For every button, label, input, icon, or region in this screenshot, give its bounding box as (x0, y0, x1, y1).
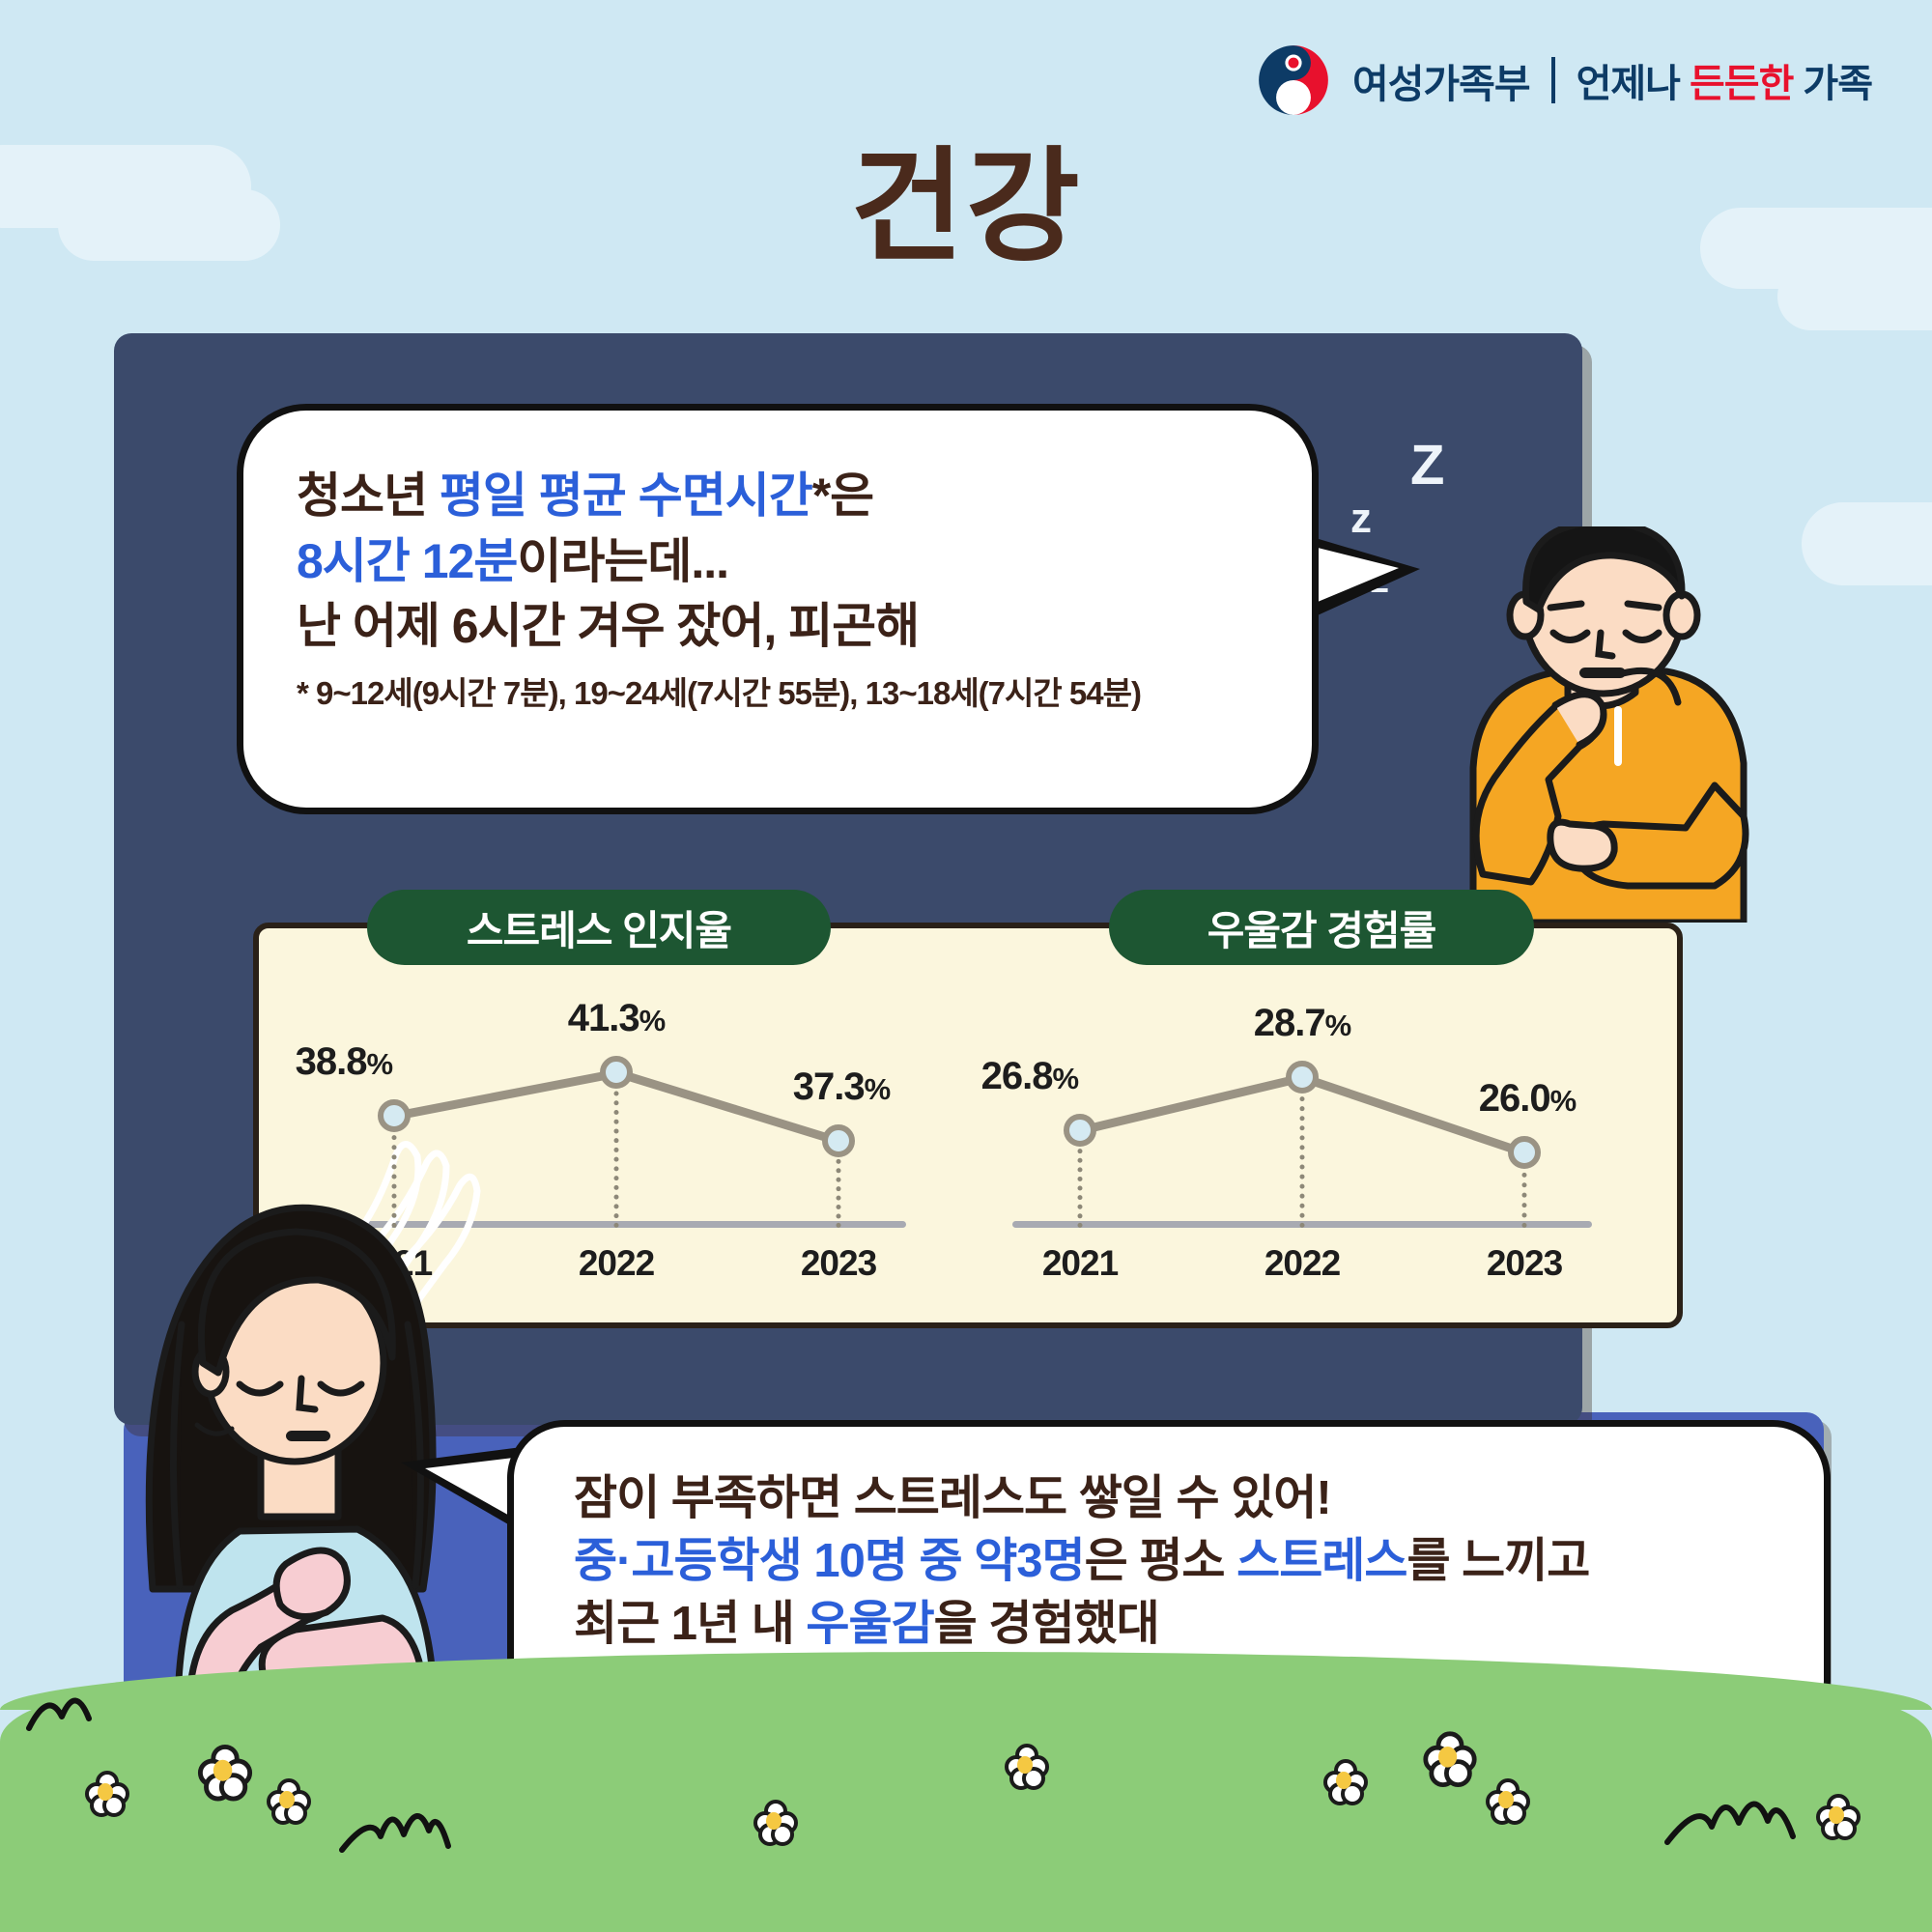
header-divider (1551, 57, 1555, 103)
flower-icon (1323, 1759, 1368, 1804)
chart-value-label: 26.8% (981, 1055, 1078, 1098)
chart-x-axis-label: 2022 (1264, 1243, 1340, 1284)
chart-point-stem (1300, 1077, 1305, 1228)
flower-icon (1005, 1744, 1049, 1788)
tired-boy-illustration (1425, 526, 1840, 923)
flower-icon (198, 1745, 252, 1799)
bottom-text-stress: 스트레스 (1236, 1535, 1406, 1587)
chart-x-axis-label: 2022 (579, 1243, 654, 1284)
top-speech-bubble: 청소년 평일 평균 수면시간*은 8시간 12분이라는데... 난 어제 6시간… (237, 404, 1319, 814)
chart-value-label: 38.8% (296, 1040, 392, 1084)
grass-tuft-icon (19, 1672, 135, 1739)
flower-icon (1423, 1731, 1476, 1784)
bottom-bubble-line-3: 최근 1년 내 우울감을 경험했대 (574, 1593, 1824, 1656)
chart-x-axis-label: 2023 (1487, 1243, 1562, 1284)
bottom-text-b: 은 평소 (1085, 1535, 1236, 1587)
bubble-footnote: * 9~12세(9시간 7분), 19~24세(7시간 55분), 13~18세… (297, 668, 1312, 714)
flower-icon (267, 1778, 311, 1823)
chart-data-point[interactable] (1508, 1136, 1541, 1169)
bubble-text-highlight: 평일 평균 수면시간 (440, 469, 812, 523)
chart-title-stress: 스트레스 인지율 (367, 890, 831, 965)
bubble-line-2: 8시간 12분이라는데... (297, 529, 1312, 595)
chart-data-point[interactable] (600, 1056, 633, 1089)
bottom-bubble-line-1: 잠이 부족하면 스트레스도 쌓일 수 있어! (574, 1467, 1824, 1530)
bottom-text-depression: 우울감 (806, 1598, 933, 1650)
chart-data-point[interactable] (1064, 1114, 1096, 1147)
bottom-text-d: 를 느끼고 (1406, 1535, 1589, 1587)
flower-icon (85, 1771, 129, 1815)
grass-foreground (0, 1695, 1932, 1932)
grass-tuft-icon (1662, 1775, 1826, 1857)
flower-icon (753, 1800, 798, 1844)
chart-line-segment (393, 1068, 617, 1120)
page-title: 건강 (0, 106, 1932, 285)
grass-tuft-icon (336, 1790, 481, 1862)
flower-icon (1486, 1778, 1530, 1823)
tired-girl-illustration (97, 1135, 541, 1734)
slogan: 언제나 든든한 가족 (1577, 52, 1872, 108)
slogan-highlight: 든든한 (1690, 52, 1793, 108)
chart-data-point[interactable] (822, 1124, 855, 1157)
chart-line-segment (1079, 1073, 1303, 1135)
bubble-line-1: 청소년 평일 평균 수면시간*은 (297, 464, 1312, 529)
chart-x-axis-label: 2023 (801, 1243, 876, 1284)
bubble-text-a: 청소년 (297, 469, 440, 523)
chart-point-stem (614, 1072, 619, 1228)
sleep-z-icon: Z (1410, 433, 1444, 497)
bottom-bubble-line-2: 중·고등학생 10명 중 약3명은 평소 스트레스를 느끼고 (574, 1530, 1824, 1593)
bubble-line-3: 난 어제 6시간 겨우 잤어, 피곤해 (297, 594, 1312, 660)
ministry-name: 여성가족부 (1352, 51, 1530, 109)
chart-value-label: 28.7% (1254, 1002, 1350, 1045)
bottom-text-e: 최근 1년 내 (574, 1598, 806, 1650)
chart-x-axis-label: 2021 (1042, 1243, 1118, 1284)
bubble-text-c: *은 (812, 469, 873, 523)
bubble-text-b: 이라는데... (517, 534, 728, 588)
bubble-sleep-hours: 8시간 12분 (297, 534, 517, 588)
bottom-text-students: 중·고등학생 10명 중 약3명 (574, 1535, 1085, 1587)
chart-title-depression: 우울감 경험률 (1109, 890, 1534, 965)
chart-value-label: 26.0% (1479, 1077, 1576, 1121)
chart-point-stem (392, 1116, 397, 1228)
speech-bubble-tail-inner (1306, 545, 1399, 607)
chart-value-label: 37.3% (793, 1065, 890, 1109)
chart-value-label: 41.3% (568, 997, 665, 1040)
chart-data-point[interactable] (1286, 1061, 1319, 1094)
slogan-suffix: 가족 (1803, 52, 1872, 108)
line-chart-depression: 26.8%202128.7%202226.0%2023 (1012, 992, 1592, 1282)
bottom-text-f: 을 경험했대 (934, 1598, 1159, 1650)
slogan-prefix: 언제나 (1577, 52, 1680, 108)
chart-data-point[interactable] (378, 1099, 411, 1132)
